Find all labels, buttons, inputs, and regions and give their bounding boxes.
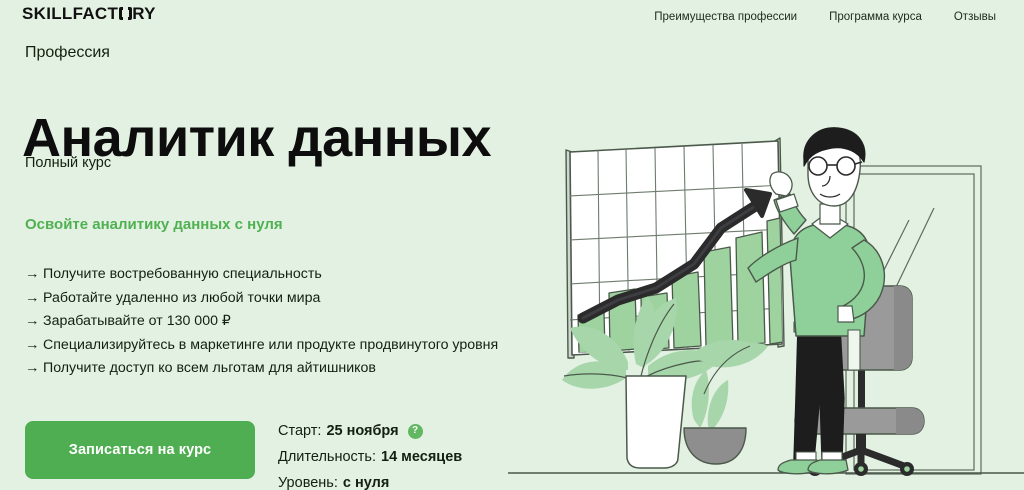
- hero-lead: Освойте аналитику данных с нуля: [25, 216, 283, 233]
- benefits-list: → Получите востребованную специальность …: [25, 263, 498, 381]
- list-item: → Работайте удаленно из любой точки мира: [25, 287, 498, 311]
- logo-text-pre: SKILLFACT: [22, 7, 118, 20]
- logo-text-post: RY: [132, 7, 156, 20]
- nav-item-reviews[interactable]: Отзывы: [954, 11, 996, 23]
- list-item-label: Зарабатывайте от 130 000 ₽: [43, 310, 231, 334]
- hero-illustration: [508, 108, 1024, 490]
- list-item: → Получите востребованную специальность: [25, 263, 498, 287]
- logo-o-glyph-icon: [119, 7, 132, 20]
- sweater: [790, 224, 870, 336]
- skillfactory-logo[interactable]: SKILLFACTRY: [22, 7, 156, 20]
- fact-value: 25 ноября: [326, 418, 398, 444]
- main-nav: Преимущества профессии Программа курса О…: [654, 11, 996, 23]
- list-item: → Получите доступ ко всем льготам для ай…: [25, 357, 498, 381]
- list-item-label: Специализируйтесь в маркетинге или проду…: [43, 334, 498, 358]
- landing-page: SKILLFACTRY Преимущества профессии Прогр…: [0, 0, 1024, 490]
- fact-start-date: Старт: 25 ноября ?: [278, 418, 462, 444]
- nav-item-advantages[interactable]: Преимущества профессии: [654, 11, 797, 23]
- list-item: → Зарабатывайте от 130 000 ₽: [25, 310, 498, 334]
- analyst-scene-illustration: [508, 108, 1024, 490]
- pocket-card: [848, 330, 860, 370]
- arrow-right-icon: →: [25, 263, 43, 287]
- cuff-right: [838, 306, 854, 322]
- fact-label: Длительность:: [278, 444, 376, 470]
- fact-duration: Длительность: 14 месяцев: [278, 444, 462, 470]
- hero-eyebrow: Профессия: [25, 44, 110, 62]
- arrow-right-icon: →: [25, 287, 43, 311]
- arrow-right-icon: →: [25, 357, 43, 381]
- fact-label: Уровень:: [278, 470, 338, 490]
- fact-label: Старт:: [278, 418, 321, 444]
- chart-board: [566, 138, 784, 358]
- fact-value: 14 месяцев: [381, 444, 462, 470]
- fact-value: с нуля: [343, 470, 389, 490]
- list-item-label: Работайте удаленно из любой точки мира: [43, 287, 320, 311]
- course-facts: Старт: 25 ноября ? Длительность: 14 меся…: [278, 418, 462, 490]
- enroll-button[interactable]: Записаться на курс: [25, 421, 255, 479]
- shoe-right: [808, 460, 848, 474]
- help-question-icon[interactable]: ?: [408, 424, 423, 439]
- nav-item-program[interactable]: Программа курса: [829, 11, 922, 23]
- white-pot: [626, 376, 686, 468]
- site-header: SKILLFACTRY Преимущества профессии Прогр…: [0, 0, 1024, 36]
- arrow-right-icon: →: [25, 334, 43, 358]
- hero-subtitle: Полный курс: [25, 155, 111, 171]
- list-item-label: Получите доступ ко всем льготам для айти…: [43, 357, 376, 381]
- list-item: → Специализируйтесь в маркетинге или про…: [25, 334, 498, 358]
- arrow-right-icon: →: [25, 310, 43, 334]
- fact-level: Уровень: с нуля: [278, 470, 462, 490]
- list-item-label: Получите востребованную специальность: [43, 263, 322, 287]
